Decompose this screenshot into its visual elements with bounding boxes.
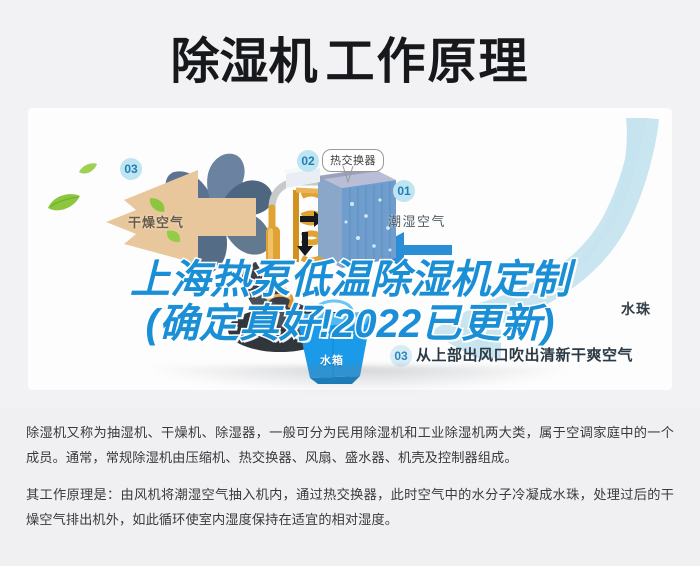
article-body: 除湿机又称为抽湿机、干燥机、除湿器，一般可分为民用除湿机和工业除湿机两大类，属于… <box>0 408 700 566</box>
leaf-icon <box>78 162 98 176</box>
paragraph-2: 其工作原理是：由风机将潮湿空气抽入机内，通过热交换器，此时空气中的水分子冷凝成水… <box>26 482 674 532</box>
step-badge-02: 02 <box>297 150 319 172</box>
illustration-shadow <box>150 366 570 392</box>
paragraph-1: 除湿机又称为抽湿机、干燥机、除湿器，一般可分为民用除湿机和工业除湿机两大类，属于… <box>26 420 674 470</box>
bottom-step-badge-03: 03 <box>390 345 412 367</box>
humid-air-label: 潮湿空气 <box>388 211 446 230</box>
leaf-icon <box>166 228 182 244</box>
leaf-icon <box>148 196 166 214</box>
infographic-panel: 除湿机工作原理 <box>0 0 700 408</box>
callout-tail-icon <box>341 166 355 184</box>
water-droplet-label: 水珠 <box>621 299 651 319</box>
leaf-icon <box>46 192 82 214</box>
bottom-step-label: 从上部出风口吹出清新干爽空气 <box>416 344 633 365</box>
step-badge-03: 03 <box>120 158 142 180</box>
step-badge-01: 01 <box>393 180 415 202</box>
